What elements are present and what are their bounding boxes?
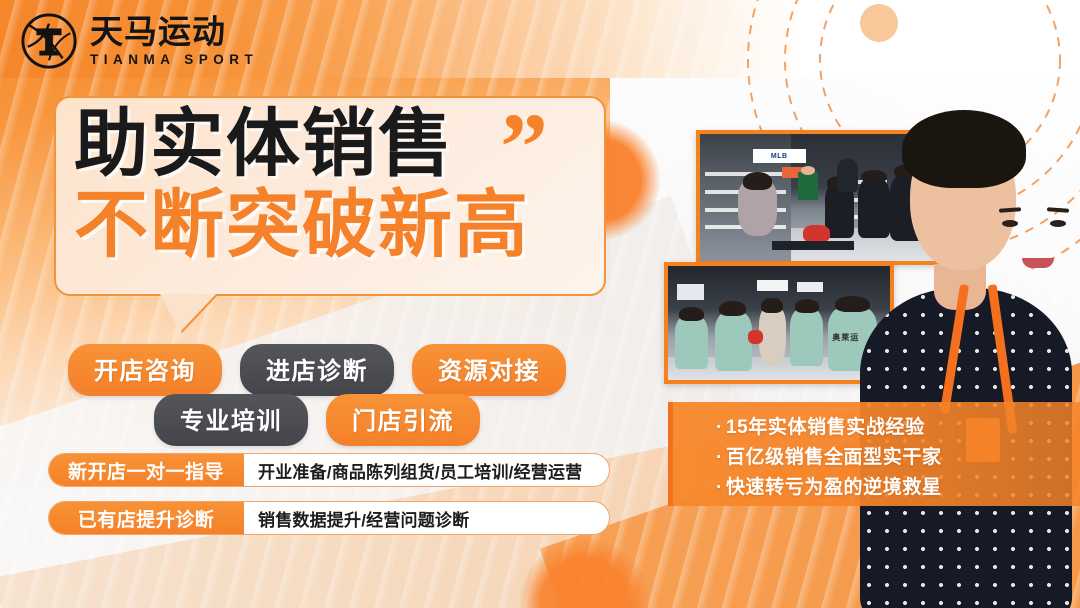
bullet-icon: · (716, 447, 723, 468)
presenter-hair-front (902, 110, 1026, 188)
bullet-icon: · (716, 417, 723, 438)
presenter-eye-right (1050, 220, 1066, 227)
presenter-brow-right (1047, 207, 1069, 213)
headline-bubble-tail (160, 294, 216, 332)
credential-item-2: ·百亿级销售全面型实干家 (716, 442, 942, 469)
presenter-mouth (1022, 258, 1054, 268)
brand-name-en: TIANMA SPORT (90, 53, 258, 67)
service-row-1-detail: 开业准备/商品陈列组货/员工培训/经营运营 (244, 454, 609, 486)
service-row-2-label: 已有店提升诊断 (48, 501, 244, 535)
credential-item-1: ·15年实体销售实战经验 (716, 412, 942, 439)
presenter-eye-left (1002, 220, 1018, 227)
service-row-2-detail: 销售数据提升/经营问题诊断 (244, 502, 609, 534)
service-row-new-store[interactable]: 新开店一对一指导 开业准备/商品陈列组货/员工培训/经营运营 (48, 453, 610, 487)
credential-text-1: 15年实体销售实战经验 (726, 417, 925, 438)
credential-text-2: 百亿级销售全面型实干家 (726, 447, 942, 468)
credential-item-3: ·快速转亏为盈的逆境救星 (716, 472, 942, 499)
tag-ziyuanduijie[interactable]: 资源对接 (412, 344, 566, 396)
service-row-existing-store[interactable]: 已有店提升诊断 销售数据提升/经营问题诊断 (48, 501, 610, 535)
mlb-sign-label: MLB (753, 149, 806, 163)
promo-poster: 天马运动 TIANMA SPORT 助实体销售 不断突破新高 ” 开店咨询 进店… (0, 0, 1080, 608)
bullet-icon: · (716, 477, 723, 498)
tag-mendianyinliu[interactable]: 门店引流 (326, 394, 480, 446)
service-row-1-label: 新开店一对一指导 (48, 453, 244, 487)
brand-name-cn: 天马运动 (90, 15, 258, 48)
service-tags-row-2: 专业培训 门店引流 (154, 394, 480, 446)
presenter-portrait (838, 88, 1080, 608)
credentials-list: ·15年实体销售实战经验 ·百亿级销售全面型实干家 ·快速转亏为盈的逆境救星 (716, 412, 942, 499)
presenter-brow-left (999, 207, 1021, 213)
service-tags-row-1: 开店咨询 进店诊断 资源对接 (68, 344, 566, 396)
peach-dot-large (860, 4, 898, 42)
quote-mark-icon: ” (500, 112, 548, 181)
credential-text-3: 快速转亏为盈的逆境救星 (726, 477, 942, 498)
tag-kaidianzixun[interactable]: 开店咨询 (68, 344, 222, 396)
tag-zhuanyepeixun[interactable]: 专业培训 (154, 394, 308, 446)
brand-logo[interactable]: 天马运动 TIANMA SPORT (20, 12, 258, 70)
basketball-t-monogram-icon (20, 12, 78, 70)
tag-jindianzhenduan[interactable]: 进店诊断 (240, 344, 394, 396)
